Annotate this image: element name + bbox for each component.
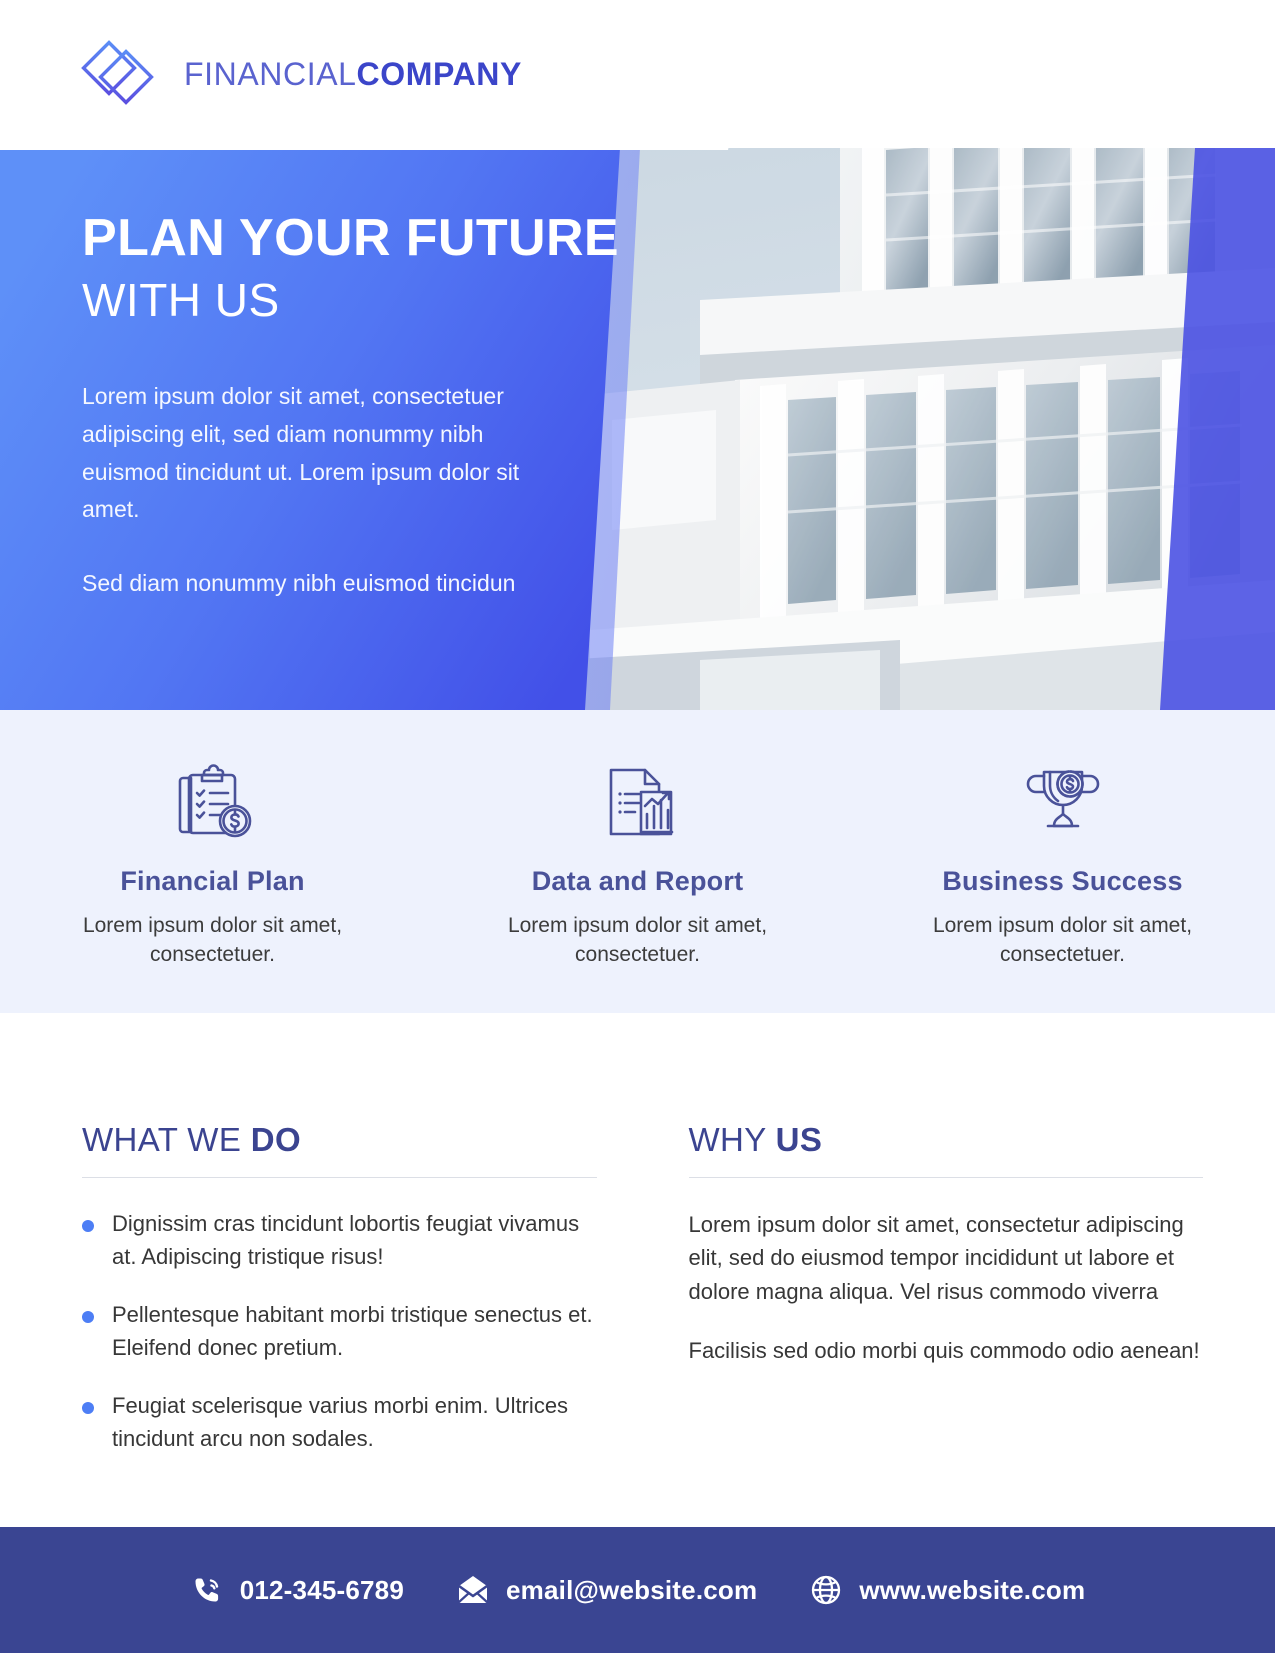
brand-name-light: FINANCIAL xyxy=(184,56,357,92)
what-we-do-column: WHAT WE DO Dignissim cras tincidunt lobo… xyxy=(82,1121,597,1527)
what-we-do-heading: WHAT WE DO xyxy=(82,1121,597,1159)
heading-divider xyxy=(689,1177,1204,1178)
footer-contact-bar: 012-345-6789 email@website.com www.web xyxy=(0,1527,1275,1653)
why-us-paragraph: Facilisis sed odio morbi quis commodo od… xyxy=(689,1334,1204,1367)
globe-icon xyxy=(809,1573,843,1607)
hero-headline-primary: PLAN YOUR FUTURE xyxy=(82,210,642,266)
contact-email-text: email@website.com xyxy=(506,1575,757,1606)
page-header: FINANCIALCOMPANY xyxy=(0,0,1275,148)
brand-name-bold: COMPANY xyxy=(357,56,522,92)
bullet-dot-icon xyxy=(82,1402,94,1414)
hero-headline-secondary: WITH US xyxy=(82,272,642,330)
list-item-text: Feugiat scelerisque varius morbi enim. U… xyxy=(112,1390,597,1455)
hero-paragraph-1: Lorem ipsum dolor sit amet, consectetuer… xyxy=(82,378,562,530)
contact-website-text: www.website.com xyxy=(859,1575,1085,1606)
heading-light-part: WHY xyxy=(689,1121,776,1158)
flyer-page: PLAN YOUR FUTURE WITH US Lorem ipsum dol… xyxy=(0,0,1275,1653)
feature-description: Lorem ipsum dolor sit amet, consectetuer… xyxy=(503,911,773,970)
bullet-dot-icon xyxy=(82,1220,94,1232)
phone-icon xyxy=(190,1573,224,1607)
feature-description: Lorem ipsum dolor sit amet, consectetuer… xyxy=(928,911,1198,970)
features-band: Financial Plan Lorem ipsum dolor sit ame… xyxy=(0,710,1275,1013)
feature-title: Financial Plan xyxy=(120,866,304,897)
hero-content: PLAN YOUR FUTURE WITH US Lorem ipsum dol… xyxy=(82,210,642,603)
feature-title: Business Success xyxy=(942,866,1182,897)
hero-paragraph-2: Sed diam nonummy nibh euismod tincidun xyxy=(82,565,522,603)
feature-item-financial-plan: Financial Plan Lorem ipsum dolor sit ame… xyxy=(0,710,425,1013)
envelope-icon xyxy=(456,1573,490,1607)
list-item-text: Dignissim cras tincidunt lobortis feugia… xyxy=(112,1208,597,1273)
heading-light-part: WHAT WE xyxy=(82,1121,251,1158)
heading-bold-part: US xyxy=(776,1121,823,1158)
heading-bold-part: DO xyxy=(251,1121,301,1158)
list-item: Dignissim cras tincidunt lobortis feugia… xyxy=(82,1208,597,1273)
hero-section: PLAN YOUR FUTURE WITH US Lorem ipsum dol… xyxy=(0,148,1275,710)
list-item: Pellentesque habitant morbi tristique se… xyxy=(82,1299,597,1364)
bullet-dot-icon xyxy=(82,1311,94,1323)
feature-title: Data and Report xyxy=(532,866,744,897)
content-columns: WHAT WE DO Dignissim cras tincidunt lobo… xyxy=(0,1013,1275,1527)
contact-phone-text: 012-345-6789 xyxy=(240,1575,404,1606)
feature-item-business-success: Business Success Lorem ipsum dolor sit a… xyxy=(850,710,1275,1013)
what-we-do-list: Dignissim cras tincidunt lobortis feugia… xyxy=(82,1208,597,1455)
document-bar-chart-icon xyxy=(595,762,681,842)
list-item-text: Pellentesque habitant morbi tristique se… xyxy=(112,1299,597,1364)
why-us-heading: WHY US xyxy=(689,1121,1204,1159)
trophy-dollar-icon xyxy=(1020,762,1106,842)
heading-divider xyxy=(82,1177,597,1178)
clipboard-checklist-dollar-icon xyxy=(170,762,256,842)
contact-email[interactable]: email@website.com xyxy=(456,1573,757,1607)
feature-item-data-and-report: Data and Report Lorem ipsum dolor sit am… xyxy=(425,710,850,1013)
contact-website[interactable]: www.website.com xyxy=(809,1573,1085,1607)
double-diamond-logo-icon xyxy=(78,37,162,111)
brand-wordmark: FINANCIALCOMPANY xyxy=(184,56,522,93)
feature-description: Lorem ipsum dolor sit amet, consectetuer… xyxy=(78,911,348,970)
why-us-column: WHY US Lorem ipsum dolor sit amet, conse… xyxy=(689,1121,1204,1527)
why-us-paragraph: Lorem ipsum dolor sit amet, consectetur … xyxy=(689,1208,1204,1308)
contact-phone[interactable]: 012-345-6789 xyxy=(190,1573,404,1607)
list-item: Feugiat scelerisque varius morbi enim. U… xyxy=(82,1390,597,1455)
